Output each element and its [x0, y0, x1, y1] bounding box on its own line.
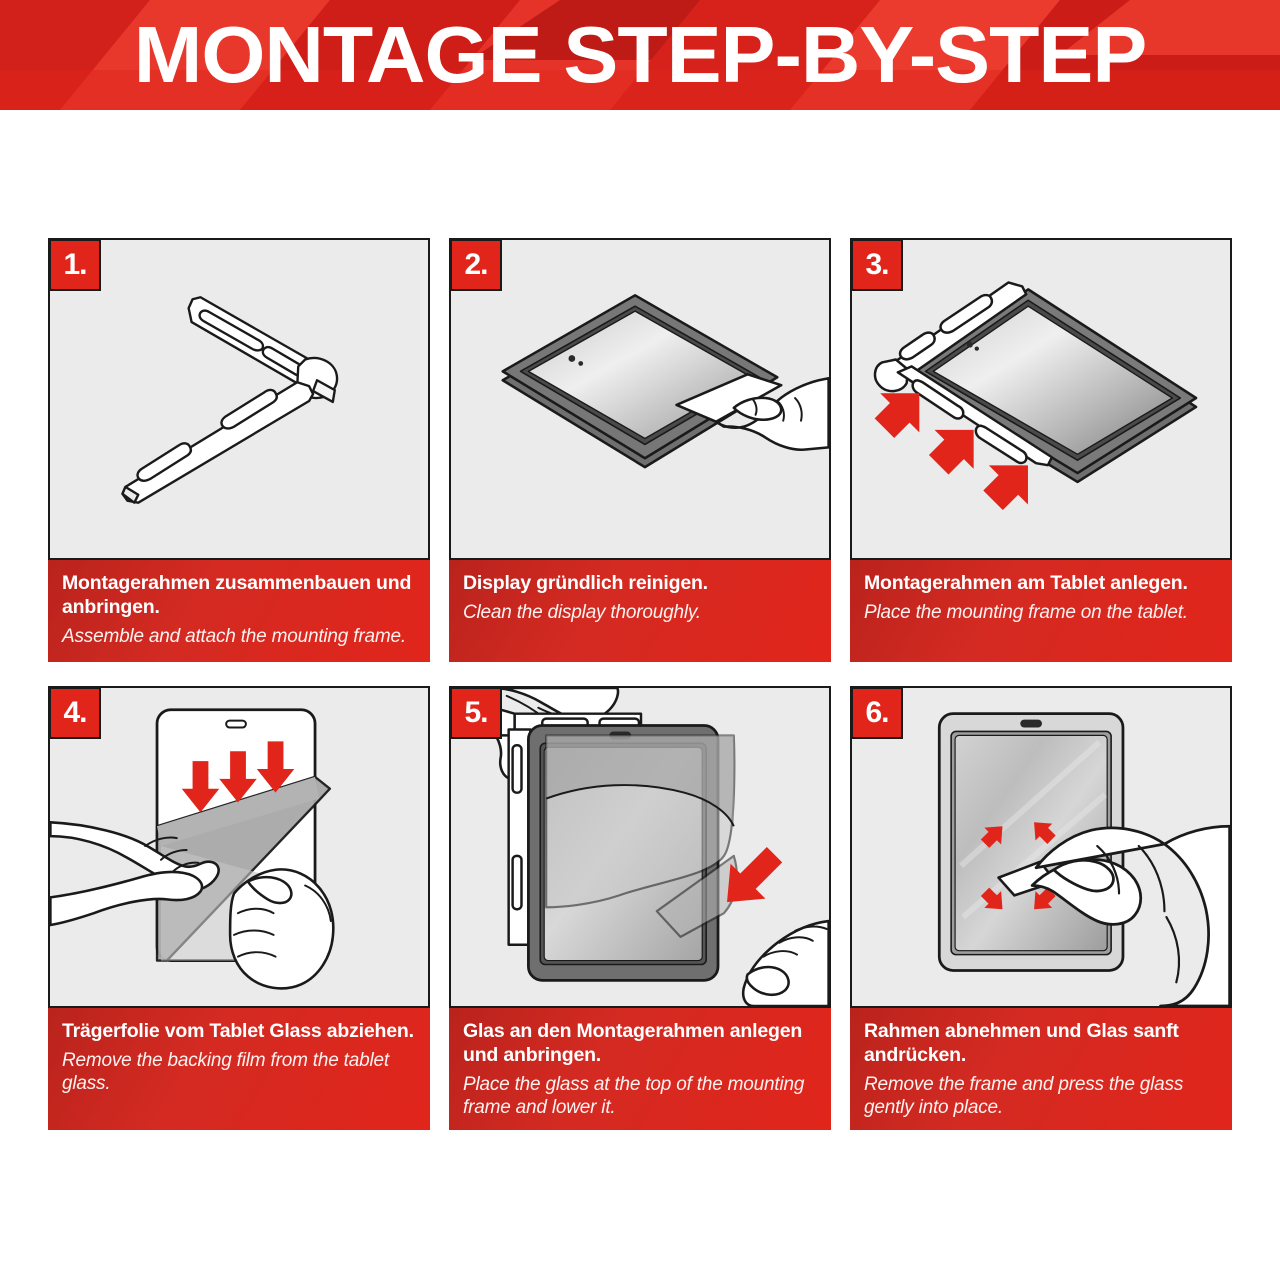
page-title: MONTAGE STEP-BY-STEP [0, 0, 1280, 110]
step-panel-6: 6. [850, 686, 1232, 1130]
caption-step-2: Display gründlich reinigen. Clean the di… [449, 560, 831, 662]
lower-glass-onto-frame-icon [451, 688, 829, 1006]
step-number-badge-3: 3. [851, 239, 903, 291]
caption-step-6: Rahmen abnehmen und Glas sanft andrücken… [850, 1008, 1232, 1130]
step-number-badge-4: 4. [49, 687, 101, 739]
step-panel-1: 1. [48, 238, 430, 662]
step-number-badge-6: 6. [851, 687, 903, 739]
caption-step-4: Trägerfolie vom Tablet Glass abziehen. R… [48, 1008, 430, 1130]
caption-de-2: Display gründlich reinigen. [463, 572, 817, 596]
illustration-step-5: 5. [449, 686, 831, 1008]
caption-de-5: Glas an den Montagerahmen anlegen und an… [463, 1020, 817, 1068]
caption-step-5: Glas an den Montagerahmen anlegen und an… [449, 1008, 831, 1130]
caption-de-4: Trägerfolie vom Tablet Glass abziehen. [62, 1020, 416, 1044]
caption-en-2: Clean the display thoroughly. [463, 601, 817, 624]
step-number-badge-1: 1. [49, 239, 101, 291]
tablet-cleaning-icon [451, 240, 829, 558]
caption-en-1: Assemble and attach the mounting frame. [62, 625, 416, 648]
steps-grid: 1. [48, 238, 1232, 1130]
illustration-step-2: 2. [449, 238, 831, 560]
header-banner: MONTAGE STEP-BY-STEP [0, 0, 1280, 110]
caption-step-3: Montagerahmen am Tablet anlegen. Place t… [850, 560, 1232, 662]
caption-en-5: Place the glass at the top of the mounti… [463, 1073, 817, 1119]
caption-de-3: Montagerahmen am Tablet anlegen. [864, 572, 1218, 596]
step-panel-2: 2. [449, 238, 831, 662]
illustration-step-6: 6. [850, 686, 1232, 1008]
frame-on-tablet-icon [852, 240, 1230, 558]
peel-backing-film-icon [50, 688, 428, 1006]
step-number-badge-5: 5. [450, 687, 502, 739]
caption-de-6: Rahmen abnehmen und Glas sanft andrücken… [864, 1020, 1218, 1068]
step-panel-3: 3. [850, 238, 1232, 662]
caption-step-1: Montagerahmen zusammenbauen und anbringe… [48, 560, 430, 662]
press-glass-squeegee-icon [852, 688, 1230, 1006]
caption-en-4: Remove the backing film from the tablet … [62, 1049, 416, 1095]
illustration-step-1: 1. [48, 238, 430, 560]
caption-en-6: Remove the frame and press the glass gen… [864, 1073, 1218, 1119]
step-panel-5: 5. [449, 686, 831, 1130]
step-panel-4: 4. [48, 686, 430, 1130]
caption-de-1: Montagerahmen zusammenbauen und anbringe… [62, 572, 416, 620]
mounting-frame-icon [50, 240, 428, 558]
illustration-step-4: 4. [48, 686, 430, 1008]
step-number-badge-2: 2. [450, 239, 502, 291]
illustration-step-3: 3. [850, 238, 1232, 560]
caption-en-3: Place the mounting frame on the tablet. [864, 601, 1218, 624]
